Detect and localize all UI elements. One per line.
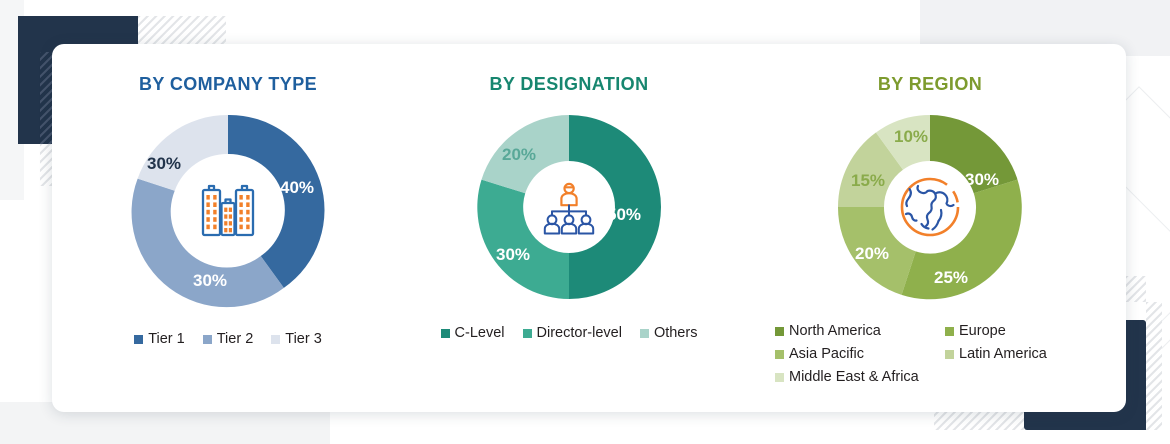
donut-company-type: 40% 30% 30%	[125, 107, 331, 313]
legend-item-europe[interactable]: Europe	[945, 323, 1085, 339]
legend-region: North America Europe Asia Pacific Latin …	[775, 323, 1085, 385]
legend-swatch-tier-1	[134, 335, 143, 344]
legend-item-middle-east-africa[interactable]: Middle East & Africa	[775, 369, 945, 385]
legend-swatch-tier-3	[271, 335, 280, 344]
donut-slice-north-america[interactable]	[930, 115, 1018, 193]
legend-label-asia-pacific: Asia Pacific	[789, 346, 864, 362]
donut-slice-others[interactable]	[482, 115, 570, 193]
legend-swatch-tier-2	[203, 335, 212, 344]
legend-label-others: Others	[654, 325, 698, 341]
legend-item-c-level[interactable]: C-Level	[441, 325, 505, 341]
donut-designation: 50% 30% 20%	[469, 107, 669, 307]
legend-item-latin-america[interactable]: Latin America	[945, 346, 1085, 362]
legend-item-tier-1[interactable]: Tier 1	[134, 331, 185, 347]
donut-slice-c-level[interactable]	[569, 115, 661, 299]
chart-panel-company-type: BY COMPANY TYPE	[52, 44, 404, 412]
donut-region: 30% 25% 20% 15% 10%	[830, 107, 1030, 307]
donut-slice-europe[interactable]	[902, 180, 1022, 300]
legend-swatch-asia-pacific	[775, 350, 784, 359]
donut-slice-asia-pacific[interactable]	[838, 207, 916, 295]
legend-item-tier-2[interactable]: Tier 2	[203, 331, 254, 347]
legend-swatch-middle-east-africa	[775, 373, 784, 382]
legend-item-north-america[interactable]: North America	[775, 323, 945, 339]
legend-label-north-america: North America	[789, 323, 881, 339]
navy-bar-vertical-top-left	[18, 16, 40, 144]
legend-designation: C-Level Director-level Others	[432, 325, 707, 341]
legend-item-asia-pacific[interactable]: Asia Pacific	[775, 346, 945, 362]
legend-swatch-north-america	[775, 327, 784, 336]
donut-slice-tier-3[interactable]	[138, 115, 228, 191]
legend-swatch-europe	[945, 327, 954, 336]
content-card: BY COMPANY TYPE	[52, 44, 1126, 412]
legend-label-tier-2: Tier 2	[217, 331, 254, 347]
legend-swatch-c-level	[441, 329, 450, 338]
grey-panel-top-left	[0, 0, 24, 200]
legend-label-director-level: Director-level	[537, 325, 622, 341]
legend-label-latin-america: Latin America	[959, 346, 1047, 362]
chart-title-region: BY REGION	[878, 74, 982, 95]
infographic-canvas: BY COMPANY TYPE	[0, 0, 1170, 444]
legend-label-middle-east-africa: Middle East & Africa	[789, 369, 919, 385]
legend-label-europe: Europe	[959, 323, 1006, 339]
donut-slice-director-level[interactable]	[477, 180, 569, 299]
legend-item-tier-3[interactable]: Tier 3	[271, 331, 322, 347]
chart-panel-region: BY REGION	[734, 44, 1126, 412]
chart-panel-designation: BY DESIGNATION	[404, 44, 734, 412]
donut-svg-region	[830, 107, 1030, 307]
legend-item-others[interactable]: Others	[640, 325, 698, 341]
donut-svg-designation	[469, 107, 669, 307]
donut-slice-tier-1[interactable]	[228, 115, 325, 288]
legend-company-type: Tier 1 Tier 2 Tier 3	[125, 331, 331, 347]
chart-title-company-type: BY COMPANY TYPE	[139, 74, 317, 95]
donut-slice-tier-2[interactable]	[132, 179, 284, 308]
legend-swatch-others	[640, 329, 649, 338]
donut-svg-company-type	[125, 107, 331, 313]
chart-title-designation: BY DESIGNATION	[490, 74, 649, 95]
legend-label-tier-1: Tier 1	[148, 331, 185, 347]
legend-label-c-level: C-Level	[455, 325, 505, 341]
legend-label-tier-3: Tier 3	[285, 331, 322, 347]
legend-item-director-level[interactable]: Director-level	[523, 325, 622, 341]
legend-swatch-latin-america	[945, 350, 954, 359]
hatch-pale-right	[1146, 302, 1162, 430]
legend-swatch-director-level	[523, 329, 532, 338]
